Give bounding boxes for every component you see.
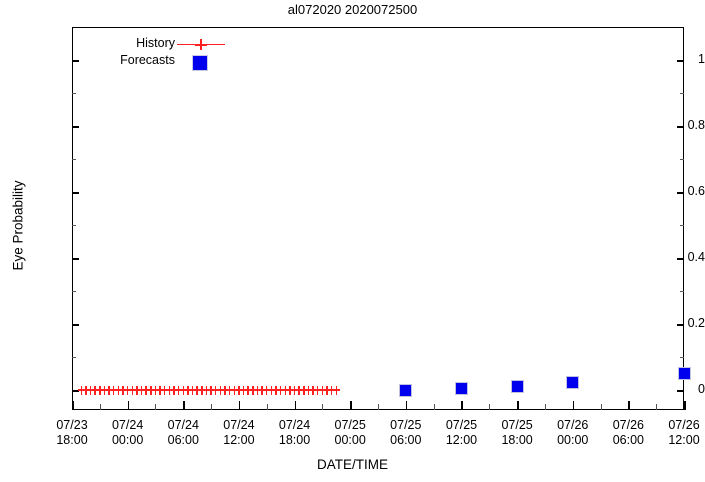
- y-tick-label: 0.2: [671, 316, 705, 330]
- plot-area: [72, 27, 684, 410]
- x-tick-label: 07/2400:00: [97, 418, 159, 448]
- x-tick-mark: [72, 401, 74, 410]
- y-tick-label: 0: [671, 382, 705, 396]
- x-tick-time: 12:00: [208, 433, 270, 448]
- y-minor-tick: [680, 225, 684, 226]
- y-tick-mark: [72, 258, 79, 260]
- x-tick-mark: [628, 401, 630, 410]
- x-tick-label: 07/2600:00: [542, 418, 604, 448]
- x-tick-label: 07/2506:00: [375, 418, 437, 448]
- forecast-point-marker: [566, 376, 579, 389]
- y-tick-mark: [72, 60, 79, 62]
- x-minor-tick: [489, 404, 490, 410]
- y-tick-label: 0.4: [671, 250, 705, 264]
- x-tick-date: 07/25: [486, 418, 548, 433]
- x-tick-label: 07/2318:00: [41, 418, 103, 448]
- x-tick-label: 07/2512:00: [430, 418, 492, 448]
- y-tick-mark: [677, 258, 684, 260]
- x-tick-mark: [461, 401, 463, 410]
- y-tick-label: 0.8: [671, 118, 705, 132]
- legend-item-forecasts: Forecasts: [95, 53, 225, 70]
- y-minor-tick: [680, 291, 684, 292]
- x-tick-time: 06:00: [152, 433, 214, 448]
- chart-legend: History Forecasts: [95, 36, 225, 72]
- y-tick-mark: [677, 192, 684, 194]
- forecast-point-marker: [678, 367, 691, 380]
- x-tick-label: 07/2418:00: [264, 418, 326, 448]
- x-tick-time: 12:00: [430, 433, 492, 448]
- x-minor-tick: [545, 404, 546, 410]
- legend-label-forecasts: Forecasts: [120, 53, 175, 67]
- y-tick-mark: [677, 126, 684, 128]
- x-tick-time: 18:00: [41, 433, 103, 448]
- x-tick-time: 00:00: [542, 433, 604, 448]
- y-minor-tick: [680, 93, 684, 94]
- x-tick-time: 12:00: [653, 433, 705, 448]
- x-tick-date: 07/25: [319, 418, 381, 433]
- x-minor-tick: [322, 404, 323, 410]
- x-minor-tick: [656, 404, 657, 410]
- x-minor-tick: [378, 404, 379, 410]
- x-tick-mark: [183, 401, 185, 410]
- y-minor-tick: [680, 159, 684, 160]
- x-minor-tick: [211, 404, 212, 410]
- y-tick-mark: [677, 390, 684, 392]
- x-tick-date: 07/25: [375, 418, 437, 433]
- x-tick-time: 00:00: [97, 433, 159, 448]
- y-tick-mark: [72, 126, 79, 128]
- x-tick-time: 00:00: [319, 433, 381, 448]
- forecast-point-marker: [455, 382, 468, 395]
- y-minor-tick: [72, 159, 76, 160]
- y-minor-tick: [72, 93, 76, 94]
- x-tick-time: 06:00: [375, 433, 437, 448]
- y-minor-tick: [72, 225, 76, 226]
- x-tick-date: 07/26: [653, 418, 705, 433]
- x-minor-tick: [155, 404, 156, 410]
- x-tick-label: 07/2518:00: [486, 418, 548, 448]
- x-tick-label: 07/2606:00: [597, 418, 659, 448]
- x-tick-mark: [573, 401, 575, 410]
- legend-item-history: History: [95, 36, 225, 53]
- x-tick-time: 18:00: [264, 433, 326, 448]
- x-tick-date: 07/26: [597, 418, 659, 433]
- x-tick-time: 06:00: [597, 433, 659, 448]
- x-tick-mark: [406, 401, 408, 410]
- x-minor-tick: [601, 404, 602, 410]
- legend-label-history: History: [136, 36, 175, 50]
- x-minor-tick: [267, 404, 268, 410]
- y-axis-title: Eye Probability: [11, 136, 26, 316]
- y-minor-tick: [72, 291, 76, 292]
- x-tick-date: 07/24: [264, 418, 326, 433]
- y-tick-mark: [677, 60, 684, 62]
- chart-title: al072020 2020072500: [0, 2, 705, 17]
- x-tick-date: 07/24: [208, 418, 270, 433]
- x-tick-mark: [350, 401, 352, 410]
- y-tick-label: 0.6: [671, 184, 705, 198]
- chart-container: al072020 2020072500 00.20.40.60.81 07/23…: [0, 0, 705, 482]
- x-tick-mark: [239, 401, 241, 410]
- x-tick-mark: [295, 401, 297, 410]
- x-tick-date: 07/24: [152, 418, 214, 433]
- x-tick-date: 07/24: [97, 418, 159, 433]
- legend-history-plus-icon-bar: [195, 44, 207, 46]
- y-tick-mark: [72, 192, 79, 194]
- y-minor-tick: [680, 357, 684, 358]
- legend-forecast-square-icon: [192, 55, 208, 71]
- x-tick-label: 07/2412:00: [208, 418, 270, 448]
- x-tick-label: 07/2500:00: [319, 418, 381, 448]
- x-minor-tick: [434, 404, 435, 410]
- x-axis-title: DATE/TIME: [0, 457, 705, 472]
- y-tick-label: 1: [671, 52, 705, 66]
- x-tick-mark: [684, 401, 686, 410]
- history-point-marker: [333, 386, 340, 395]
- x-tick-label: 07/2612:00: [653, 418, 705, 448]
- x-minor-tick: [100, 404, 101, 410]
- x-tick-time: 18:00: [486, 433, 548, 448]
- y-minor-tick: [72, 357, 76, 358]
- y-tick-mark: [72, 324, 79, 326]
- y-tick-mark: [677, 324, 684, 326]
- x-tick-mark: [517, 401, 519, 410]
- x-tick-date: 07/25: [430, 418, 492, 433]
- x-tick-mark: [128, 401, 130, 410]
- forecast-point-marker: [511, 380, 524, 393]
- x-tick-date: 07/26: [542, 418, 604, 433]
- forecast-point-marker: [399, 384, 412, 397]
- x-tick-date: 07/23: [41, 418, 103, 433]
- x-tick-label: 07/2406:00: [152, 418, 214, 448]
